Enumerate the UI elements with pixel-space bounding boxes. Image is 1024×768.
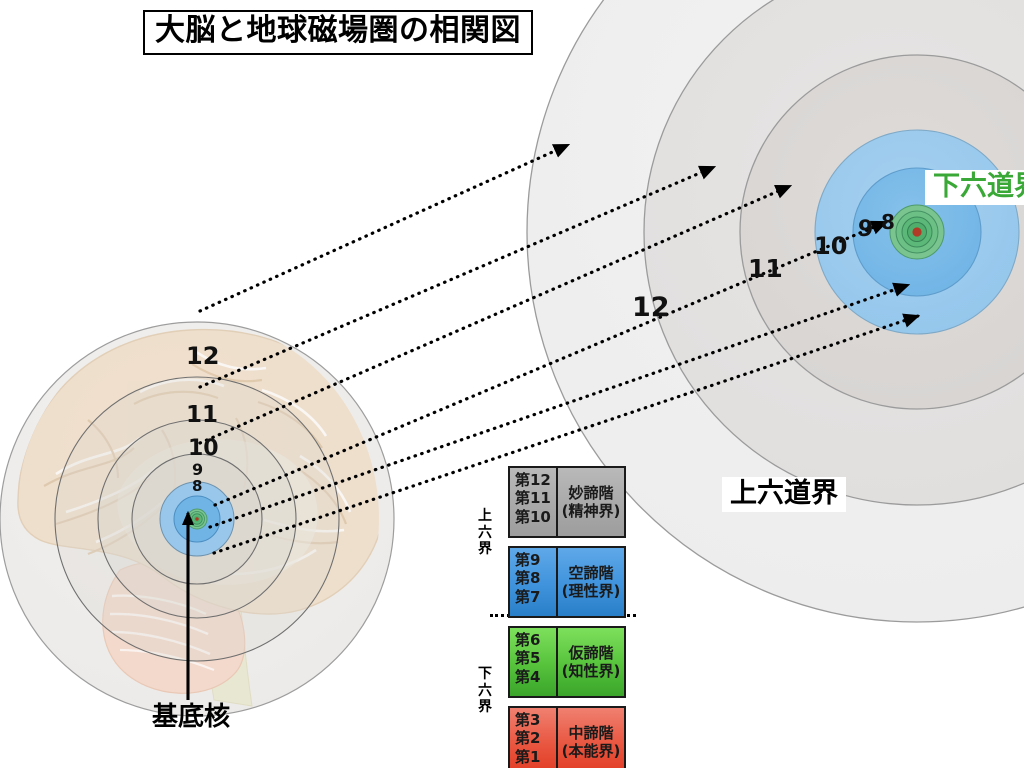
legend-stage-ketai: 仮諦階 (知性界) [558, 628, 624, 696]
brain-sphere [0, 322, 394, 716]
legend-level: 第1 [515, 748, 556, 766]
legend-level: 第10 [515, 508, 556, 526]
legend-levels-kuutai: 第9 第8 第7 [510, 548, 558, 616]
legend-levels-myotai: 第12 第11 第10 [510, 468, 558, 536]
legend-side-upper-char-1: 上 [474, 508, 496, 525]
brain-ring-label-8: 8 [192, 479, 202, 494]
legend-row-ketai: 第6 第5 第4 仮諦階 (知性界) [508, 626, 626, 698]
legend-side-lower-char-3: 界 [474, 699, 496, 716]
legend-side-upper-char-3: 界 [474, 541, 496, 558]
legend-level: 第9 [515, 551, 556, 569]
legend-stage-myotai: 妙諦階 (精神界) [558, 468, 624, 536]
legend-stage-name: 妙諦階 [568, 484, 613, 502]
brain-ring-label-10: 10 [188, 438, 219, 460]
upper-realm-label: 上六道界 [722, 477, 846, 512]
legend-row-kuutai: 第9 第8 第7 空諦階 (理性界) [508, 546, 626, 618]
field-ring-label-12: 12 [632, 294, 670, 321]
brain-ring-label-12: 12 [186, 344, 219, 368]
realm-legend: 上 六 界 下 六 界 第12 第11 第10 妙諦階 (精神界) [466, 466, 636, 768]
legend-side-upper-char-2: 六 [474, 525, 496, 542]
legend-level: 第6 [515, 631, 556, 649]
legend-stage-chuutai: 中諦階 (本能界) [558, 708, 624, 768]
legend-side-label-lower: 下 六 界 [474, 666, 496, 716]
field-ring-label-11: 11 [748, 256, 783, 281]
legend-side-lower-char-2: 六 [474, 683, 496, 700]
legend-row-myotai: 第12 第11 第10 妙諦階 (精神界) [508, 466, 626, 538]
legend-levels-chuutai: 第3 第2 第1 [510, 708, 558, 768]
legend-realm-name: (本能界) [562, 742, 621, 760]
legend-level: 第8 [515, 569, 556, 587]
legend-stage-name: 空諦階 [568, 564, 613, 582]
legend-stage-name: 中諦階 [568, 724, 613, 742]
legend-level: 第2 [515, 729, 556, 747]
diagram-canvas: 大脳と地球磁場圏の相関図 12 11 10 9 8 12 11 10 9 8 下… [0, 0, 1024, 768]
legend-level: 第12 [515, 471, 556, 489]
legend-row-chuutai: 第3 第2 第1 中諦階 (本能界) [508, 706, 626, 768]
legend-level: 第11 [515, 489, 556, 507]
legend-level: 第3 [515, 711, 556, 729]
legend-levels-ketai: 第6 第5 第4 [510, 628, 558, 696]
legend-realm-name: (理性界) [562, 582, 621, 600]
legend-level: 第5 [515, 649, 556, 667]
legend-level: 第4 [515, 668, 556, 686]
field-ring-label-8: 8 [881, 212, 895, 232]
lower-realm-label: 下六道界 [925, 170, 1024, 205]
legend-side-lower-char-1: 下 [474, 666, 496, 683]
legend-stage-name: 仮諦階 [568, 644, 613, 662]
page-title: 大脳と地球磁場圏の相関図 [143, 10, 533, 55]
legend-realm-name: (精神界) [562, 502, 621, 520]
legend-stage-kuutai: 空諦階 (理性界) [558, 548, 624, 616]
basal-ganglia-label: 基底核 [152, 704, 230, 730]
legend-side-label-upper: 上 六 界 [474, 508, 496, 558]
legend-realm-name: (知性界) [562, 662, 621, 680]
field-ring-label-10: 10 [814, 234, 847, 258]
legend-rows: 第12 第11 第10 妙諦階 (精神界) 第9 第8 第7 空諦階 [508, 466, 632, 768]
legend-level: 第7 [515, 588, 556, 606]
field-ring-label-9: 9 [858, 219, 873, 241]
brain-ring-label-9: 9 [192, 462, 203, 478]
brain-ring-label-11: 11 [186, 404, 218, 427]
